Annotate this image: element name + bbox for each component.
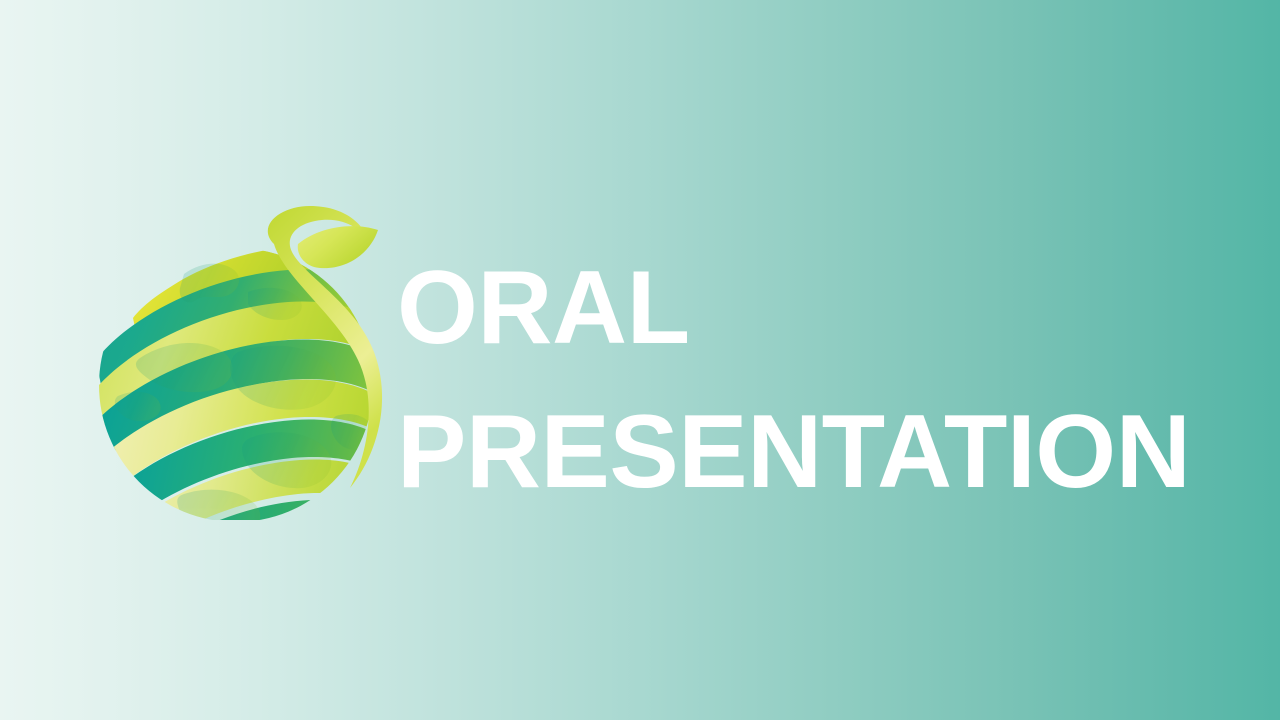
globe-ribbon-leaf-logo: [88, 200, 388, 520]
leaf-icon: [298, 226, 378, 268]
title-line-2: PRESENTATION: [397, 380, 1237, 524]
title-line-1: ORAL: [397, 236, 1237, 380]
page-title: ORAL PRESENTATION: [397, 236, 1237, 524]
presentation-slide: ORAL PRESENTATION: [0, 0, 1280, 720]
